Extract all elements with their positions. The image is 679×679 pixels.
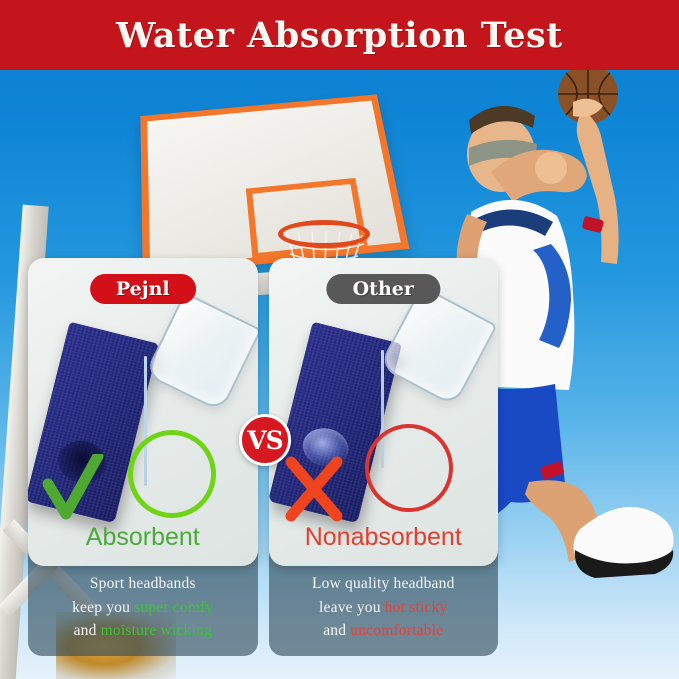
left-caption-seg-3a: and (74, 622, 101, 639)
other-badge: Other (327, 274, 440, 304)
comparison-card-right: Other Nonabsorbent Low quality headband (269, 258, 499, 656)
right-caption-seg-2a: leave you (319, 599, 385, 616)
product-comparison-image: Pejnl Absorbent Sport headbands (0, 0, 679, 679)
right-highlight-circle (365, 424, 453, 512)
left-product-photo: Pejnl Absorbent (28, 258, 258, 566)
right-caption-highlight-2: uncomfortable (350, 622, 443, 639)
comparison-card-left: Pejnl Absorbent Sport headbands (28, 258, 258, 656)
left-caption-seg-2a: keep you (72, 599, 134, 616)
left-caption-line-3: and moisture wicking (36, 619, 250, 643)
right-caption-highlight-1: hot sticky (385, 599, 448, 616)
left-caption-line-1: Sport headbands (36, 572, 250, 596)
vs-badge: VS (239, 414, 291, 466)
left-caption-line-2: keep you super comfy (36, 596, 250, 620)
page-title: Water Absorption Test (116, 15, 563, 56)
left-caption-highlight-2: moisture wicking (101, 622, 212, 639)
right-caption-line-1: Low quality headband (277, 572, 491, 596)
left-caption-seg-1a: Sport headbands (90, 575, 196, 592)
cross-icon (283, 454, 345, 524)
right-caption-line-2: leave you hot sticky (277, 596, 491, 620)
right-caption-seg-1a: Low quality headband (312, 575, 455, 592)
right-product-photo: Other Nonabsorbent (269, 258, 499, 566)
check-icon (42, 454, 104, 524)
left-highlight-circle (128, 430, 216, 518)
right-caption-line-3: and uncomfortable (277, 619, 491, 643)
backboard (140, 94, 409, 276)
left-verdict-label: Absorbent (28, 523, 258, 552)
header-banner: Water Absorption Test (0, 0, 679, 70)
right-caption-seg-3a: and (323, 622, 350, 639)
right-verdict-label: Nonabsorbent (269, 523, 499, 552)
hoop-ring (278, 220, 370, 248)
vs-label: VS (247, 426, 282, 455)
left-water-cup (144, 292, 257, 412)
brand-badge: Pejnl (90, 274, 196, 304)
left-caption-highlight-1: super comfy (134, 599, 213, 616)
